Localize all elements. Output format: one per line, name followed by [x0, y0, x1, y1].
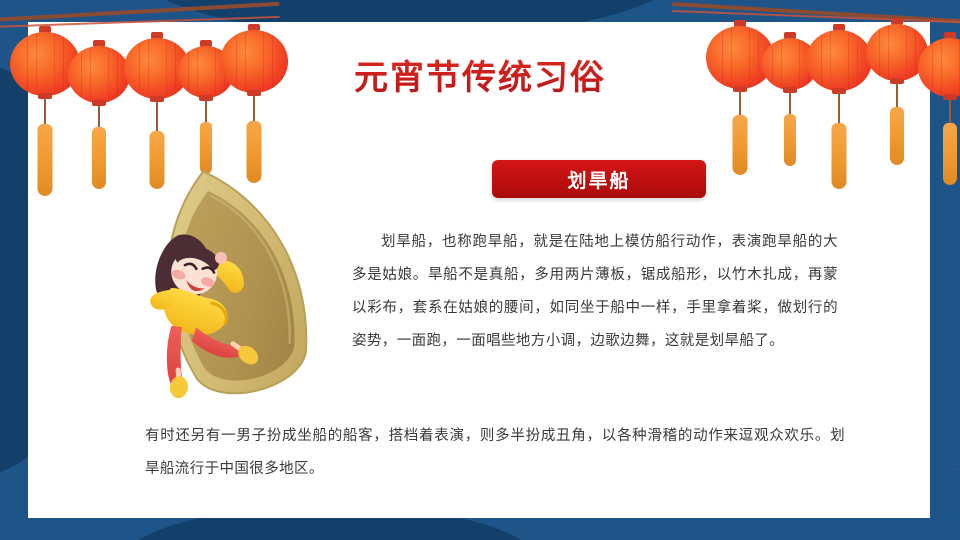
paragraph-main: 划旱船，也称跑旱船，就是在陆地上模仿船行动作，表演跑旱船的大多是姑娘。旱船不是真… — [352, 226, 838, 358]
girl-in-boat-illustration — [112, 162, 352, 412]
paragraph-tail: 有时还另有一男子扮成坐船的船客，搭档着表演，则多半扮成丑角，以各种滑稽的动作来逗… — [145, 420, 845, 486]
lantern-wire-left-1 — [0, 2, 280, 22]
section-badge: 划旱船 — [492, 160, 706, 198]
slide-root: 元宵节传统习俗 划旱船 — [0, 0, 960, 540]
page-title: 元宵节传统习俗 — [0, 50, 960, 99]
